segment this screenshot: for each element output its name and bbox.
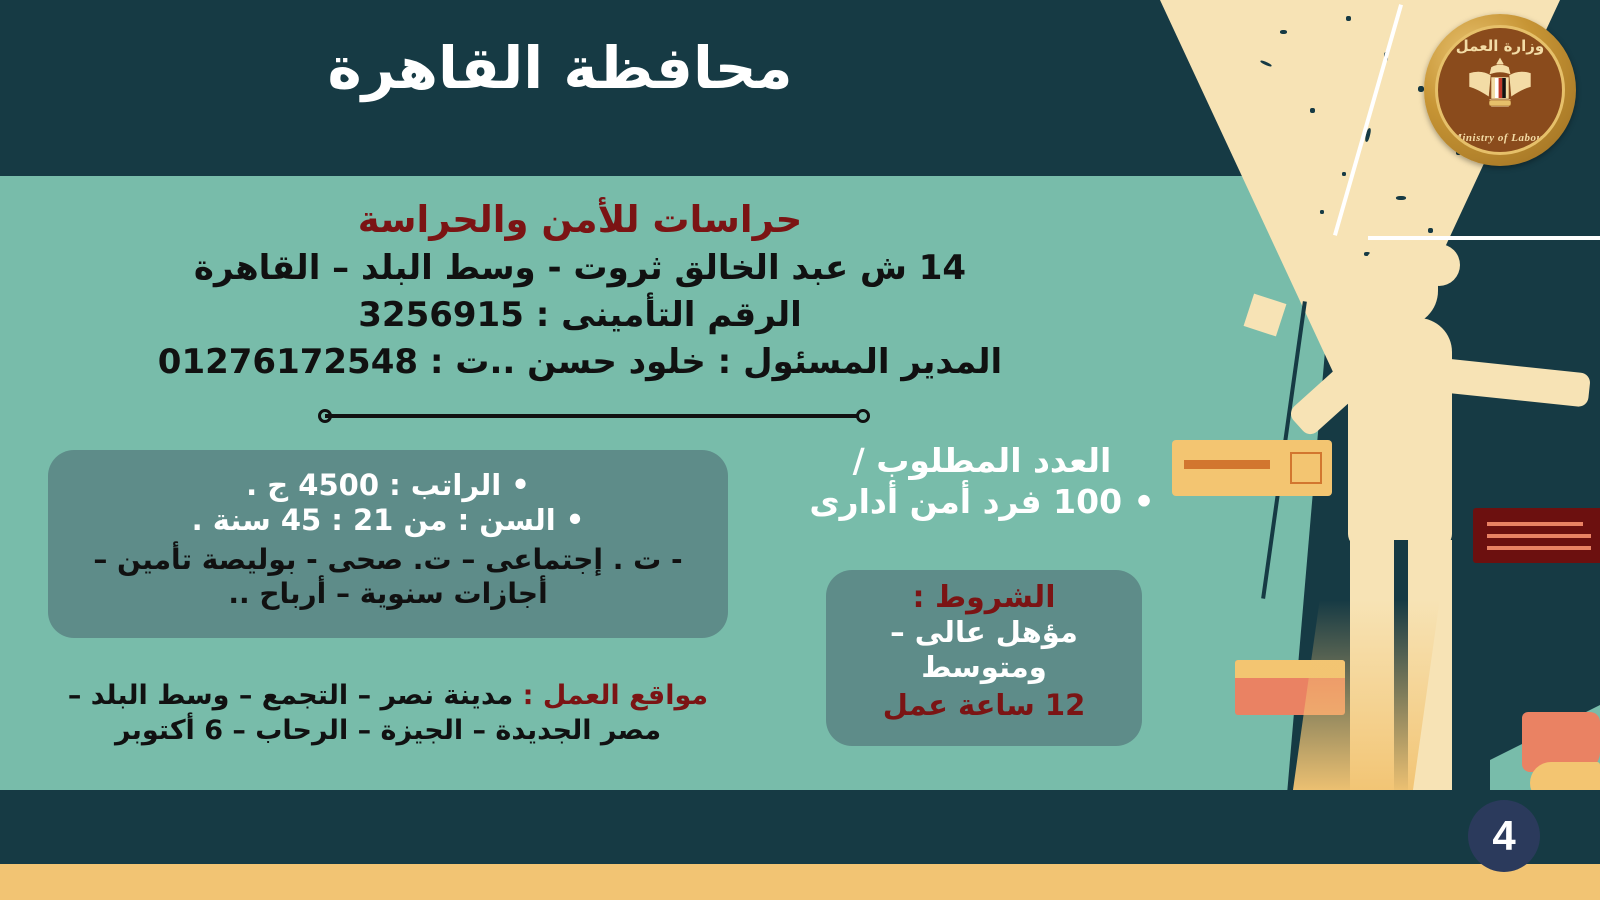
- divider-line: [325, 414, 863, 418]
- art-white-line-2: [1368, 236, 1600, 240]
- conditions-heading: الشروط :: [840, 580, 1128, 615]
- main-content: حراسات للأمن والحراسة 14 ش عبد الخالق ثر…: [0, 176, 1160, 382]
- egyptian-eagle-icon: [1465, 53, 1535, 117]
- required-count-item: • 100 فرد أمن أدارى: [806, 481, 1158, 522]
- required-count-block: العدد المطلوب / • 100 فرد أمن أدارى: [806, 440, 1158, 523]
- offer-benefits: - ت . إجتماعى – ت. صحى - بوليصة تأمين – …: [76, 543, 700, 611]
- art-person-torso: [1348, 318, 1452, 548]
- offer-salary: • الراتب : 4500 ج .: [76, 468, 700, 503]
- section-divider: [318, 409, 870, 423]
- page-number-badge: 4: [1468, 800, 1540, 872]
- art-person-left-hand: [1244, 294, 1287, 337]
- company-name: حراسات للأمن والحراسة: [0, 198, 1160, 241]
- page-title: محافظة القاهرة: [0, 34, 1120, 102]
- footer-gold-band: [0, 864, 1600, 900]
- required-count-heading: العدد المطلوب /: [806, 440, 1158, 481]
- slide-canvas: وزارة العمل Ministry of Labour: [0, 0, 1600, 900]
- footer-dark-band: [0, 790, 1600, 864]
- work-locations-label: مواقع العمل :: [523, 680, 708, 711]
- logo-inner-disc: وزارة العمل Ministry of Labour: [1435, 25, 1565, 155]
- work-locations: مواقع العمل : مدينة نصر – التجمع – وسط ا…: [48, 678, 728, 748]
- offer-details-panel: • الراتب : 4500 ج . • السن : من 21 : 45 …: [48, 450, 728, 638]
- art-person-right-arm: [1438, 358, 1591, 407]
- logo-english-text: Ministry of Labour: [1438, 132, 1562, 144]
- ministry-of-labour-logo: وزارة العمل Ministry of Labour: [1424, 14, 1576, 166]
- art-red-card: [1473, 508, 1600, 563]
- offer-age: • السن : من 21 : 45 سنة .: [76, 503, 700, 538]
- insurance-number: الرقم التأمينى : 3256915: [0, 295, 1160, 335]
- company-address: 14 ش عبد الخالق ثروت - وسط البلد – القاه…: [0, 248, 1160, 288]
- art-yellow-card: [1172, 440, 1332, 496]
- conditions-working-hours: 12 ساعة عمل: [840, 688, 1128, 722]
- divider-dot-right: [856, 409, 870, 423]
- art-person-head: [1360, 240, 1438, 326]
- conditions-qualification: مؤهل عالى – ومتوسط: [840, 615, 1128, 686]
- responsible-manager: المدير المسئول : خلود حسن ..ت : 01276172…: [0, 342, 1160, 382]
- conditions-panel: الشروط : مؤهل عالى – ومتوسط 12 ساعة عمل: [826, 570, 1142, 746]
